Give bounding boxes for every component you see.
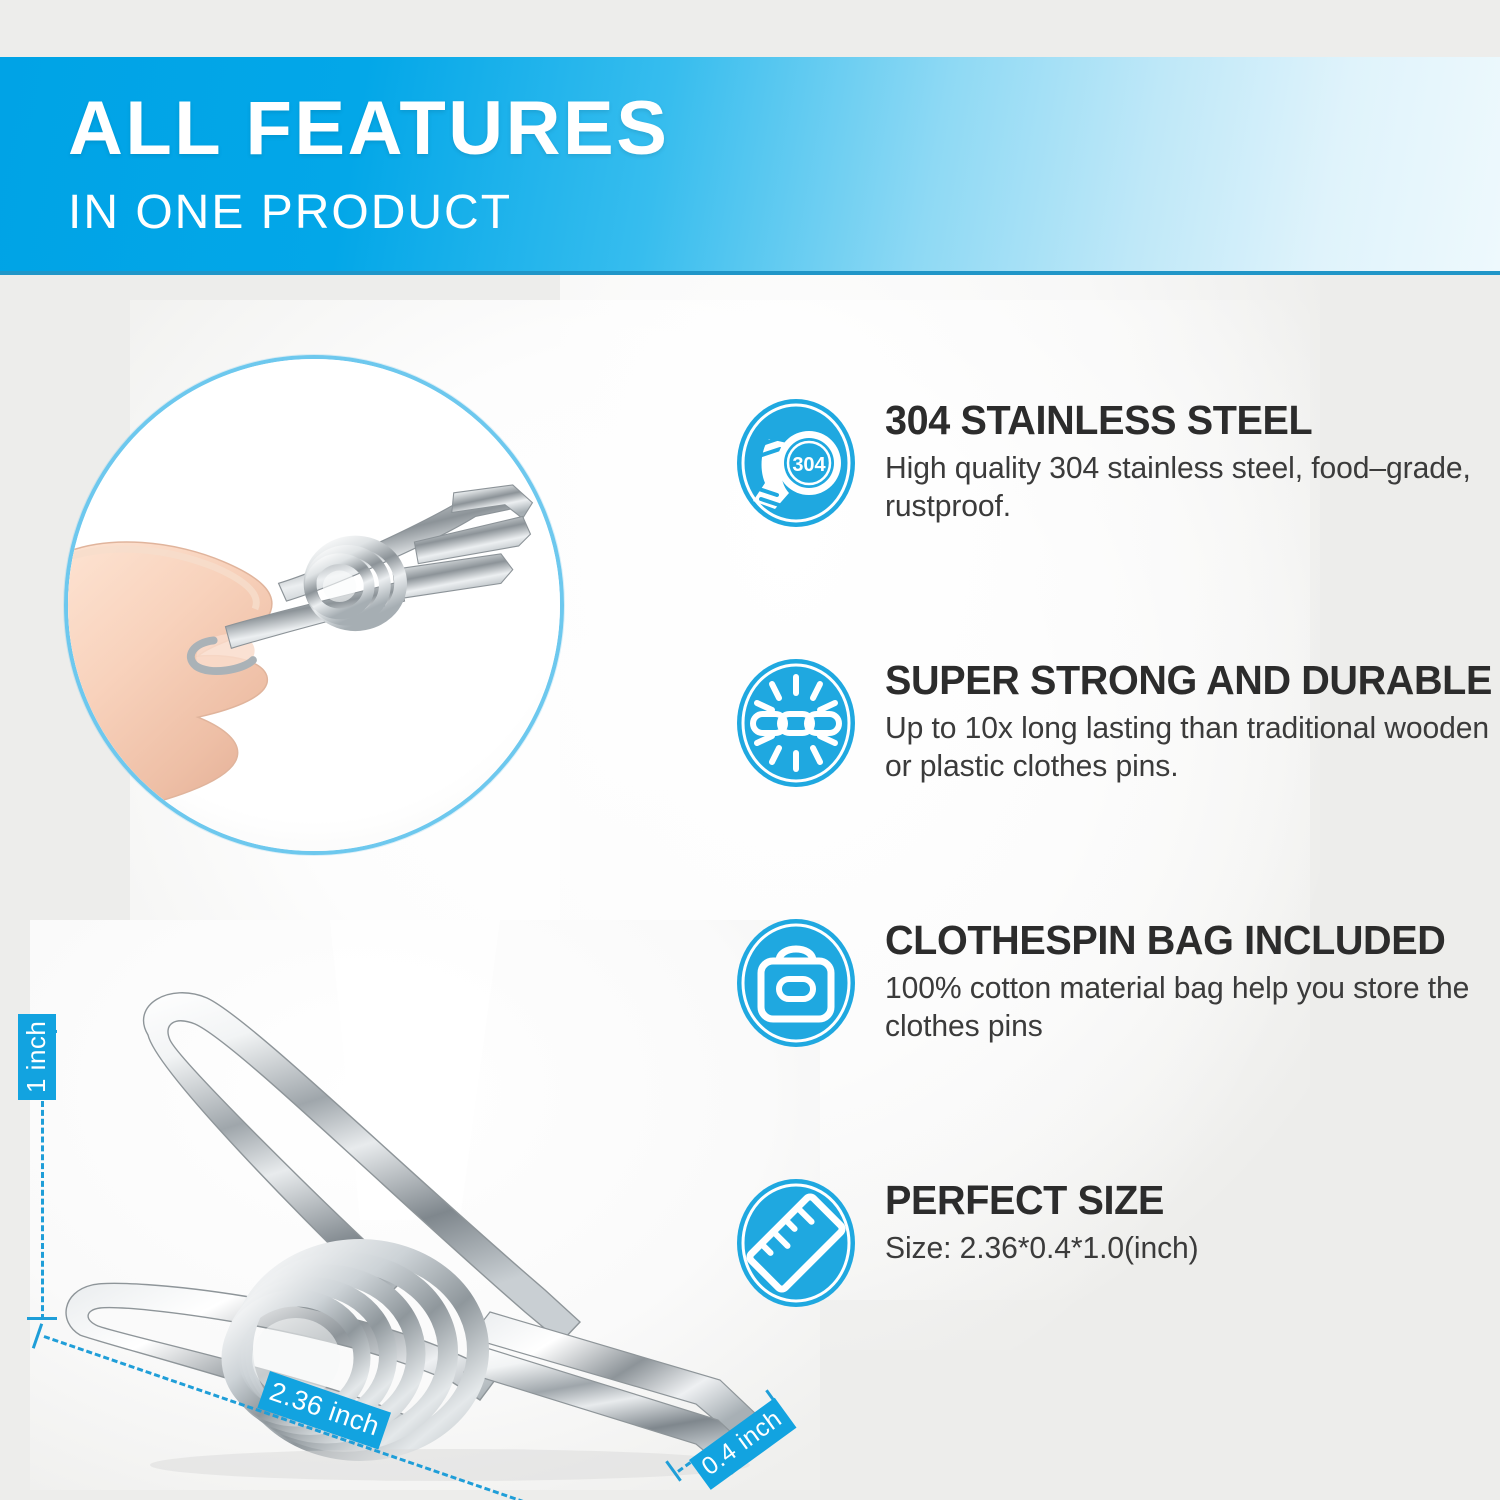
chain-link-burst-icon [735, 657, 857, 789]
feature-description: Size: 2.36*0.4*1.0(inch) [885, 1229, 1477, 1268]
feature-description: 100% cotton material bag help you store … [885, 969, 1477, 1047]
feature-description: High quality 304 stainless steel, food–g… [885, 449, 1477, 527]
feature-title: PERFECT SIZE [885, 1179, 1474, 1222]
feature-item-clothespin-bag-included: CLOTHESPIN BAG INCLUDED 100% cotton mate… [735, 913, 1495, 1053]
feature-title: 304 STAINLESS STEEL [885, 399, 1474, 442]
ruler-icon [735, 1177, 857, 1309]
icon-badge-304: 304 [792, 454, 826, 476]
page-title: ALL FEATURES [68, 91, 1500, 167]
feature-text-block: PERFECT SIZE Size: 2.36*0.4*1.0(inch) [885, 1173, 1495, 1267]
feature-text-block: CLOTHESPIN BAG INCLUDED 100% cotton mate… [885, 913, 1495, 1046]
infographic-page: ALL FEATURES IN ONE PRODUCT [0, 0, 1500, 1500]
steel-coil-304-icon: 304 [735, 397, 857, 529]
feature-item-304-stainless-steel: 304 304 STAINLESS STEEL High quality 304… [735, 393, 1495, 533]
feature-list: 304 304 STAINLESS STEEL High quality 304… [735, 393, 1495, 1313]
feature-description: Up to 10x long lasting than traditional … [885, 709, 1495, 787]
feature-title: CLOTHESPIN BAG INCLUDED [885, 919, 1474, 962]
feature-title: SUPER STRONG AND DURABLE [885, 659, 1492, 702]
hand-holding-clothespin-photo [64, 355, 564, 855]
shopping-bag-icon [735, 917, 857, 1049]
clothespin-closeup-photo [30, 920, 820, 1490]
feature-text-block: 304 STAINLESS STEEL High quality 304 sta… [885, 393, 1495, 526]
feature-text-block: SUPER STRONG AND DURABLE Up to 10x long … [885, 653, 1500, 786]
dimension-tick-height-bottom [27, 1317, 57, 1320]
page-subtitle: IN ONE PRODUCT [68, 189, 1500, 237]
header-banner: ALL FEATURES IN ONE PRODUCT [0, 57, 1500, 275]
feature-item-perfect-size: PERFECT SIZE Size: 2.36*0.4*1.0(inch) [735, 1173, 1495, 1313]
dimension-label-height: 1 inch [18, 1014, 56, 1100]
feature-item-super-strong-and-durable: SUPER STRONG AND DURABLE Up to 10x long … [735, 653, 1495, 793]
